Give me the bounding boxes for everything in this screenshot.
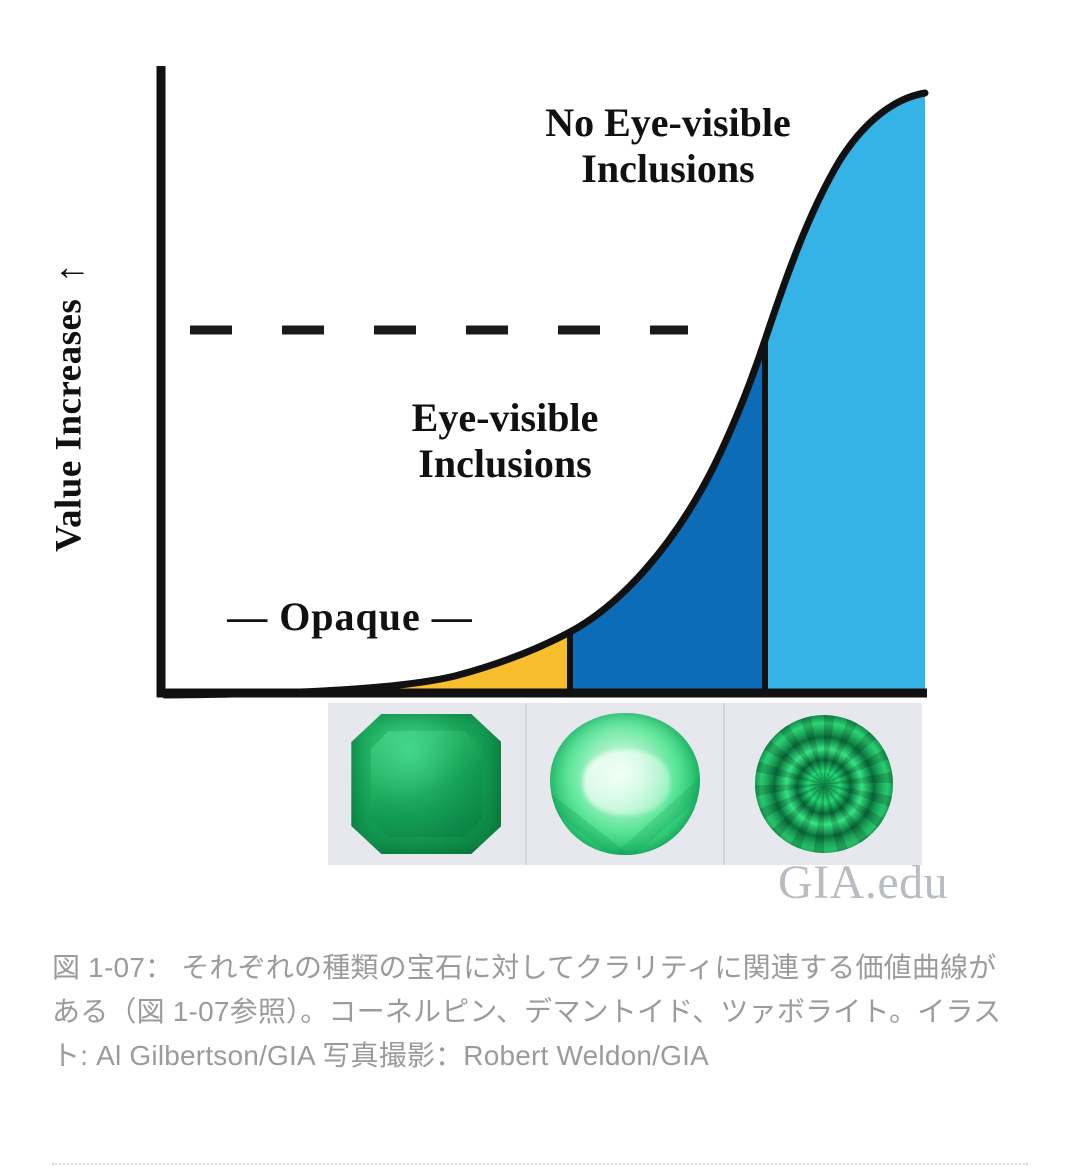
round-brilliant-gem-image [755,715,893,853]
gem-cell-round-cut [723,703,922,865]
gem-cell-oval-cut [525,703,724,865]
region-eye-visible [570,340,765,697]
up-arrow-icon: ↑ [49,263,93,283]
figure-caption: 図 1-07： それぞれの種類の宝石に対してクラリティに関連する価値曲線がある（… [52,946,1018,1079]
gem-cell-emerald-cut [328,703,525,865]
emerald-cut-gem-image [351,714,501,854]
gem-photo-strip [328,703,922,865]
label-no-eye-visible-inclusions: No Eye-visible Inclusions [468,100,868,193]
figure-page: Value Increases↑ No Eye-visible Inclusio… [0,0,1080,1173]
clarity-value-figure: Value Increases↑ No Eye-visible Inclusio… [0,0,1080,930]
label-opaque: — Opaque — [170,594,530,640]
y-axis-label: Value Increases↑ [48,198,93,618]
oval-cut-gem-image [550,713,700,855]
y-axis-label-text: Value Increases [49,299,90,552]
gia-watermark: GIA.edu [778,855,948,910]
label-eye-visible-inclusions: Eye-visible Inclusions [345,395,665,488]
bottom-divider [52,1163,1028,1165]
